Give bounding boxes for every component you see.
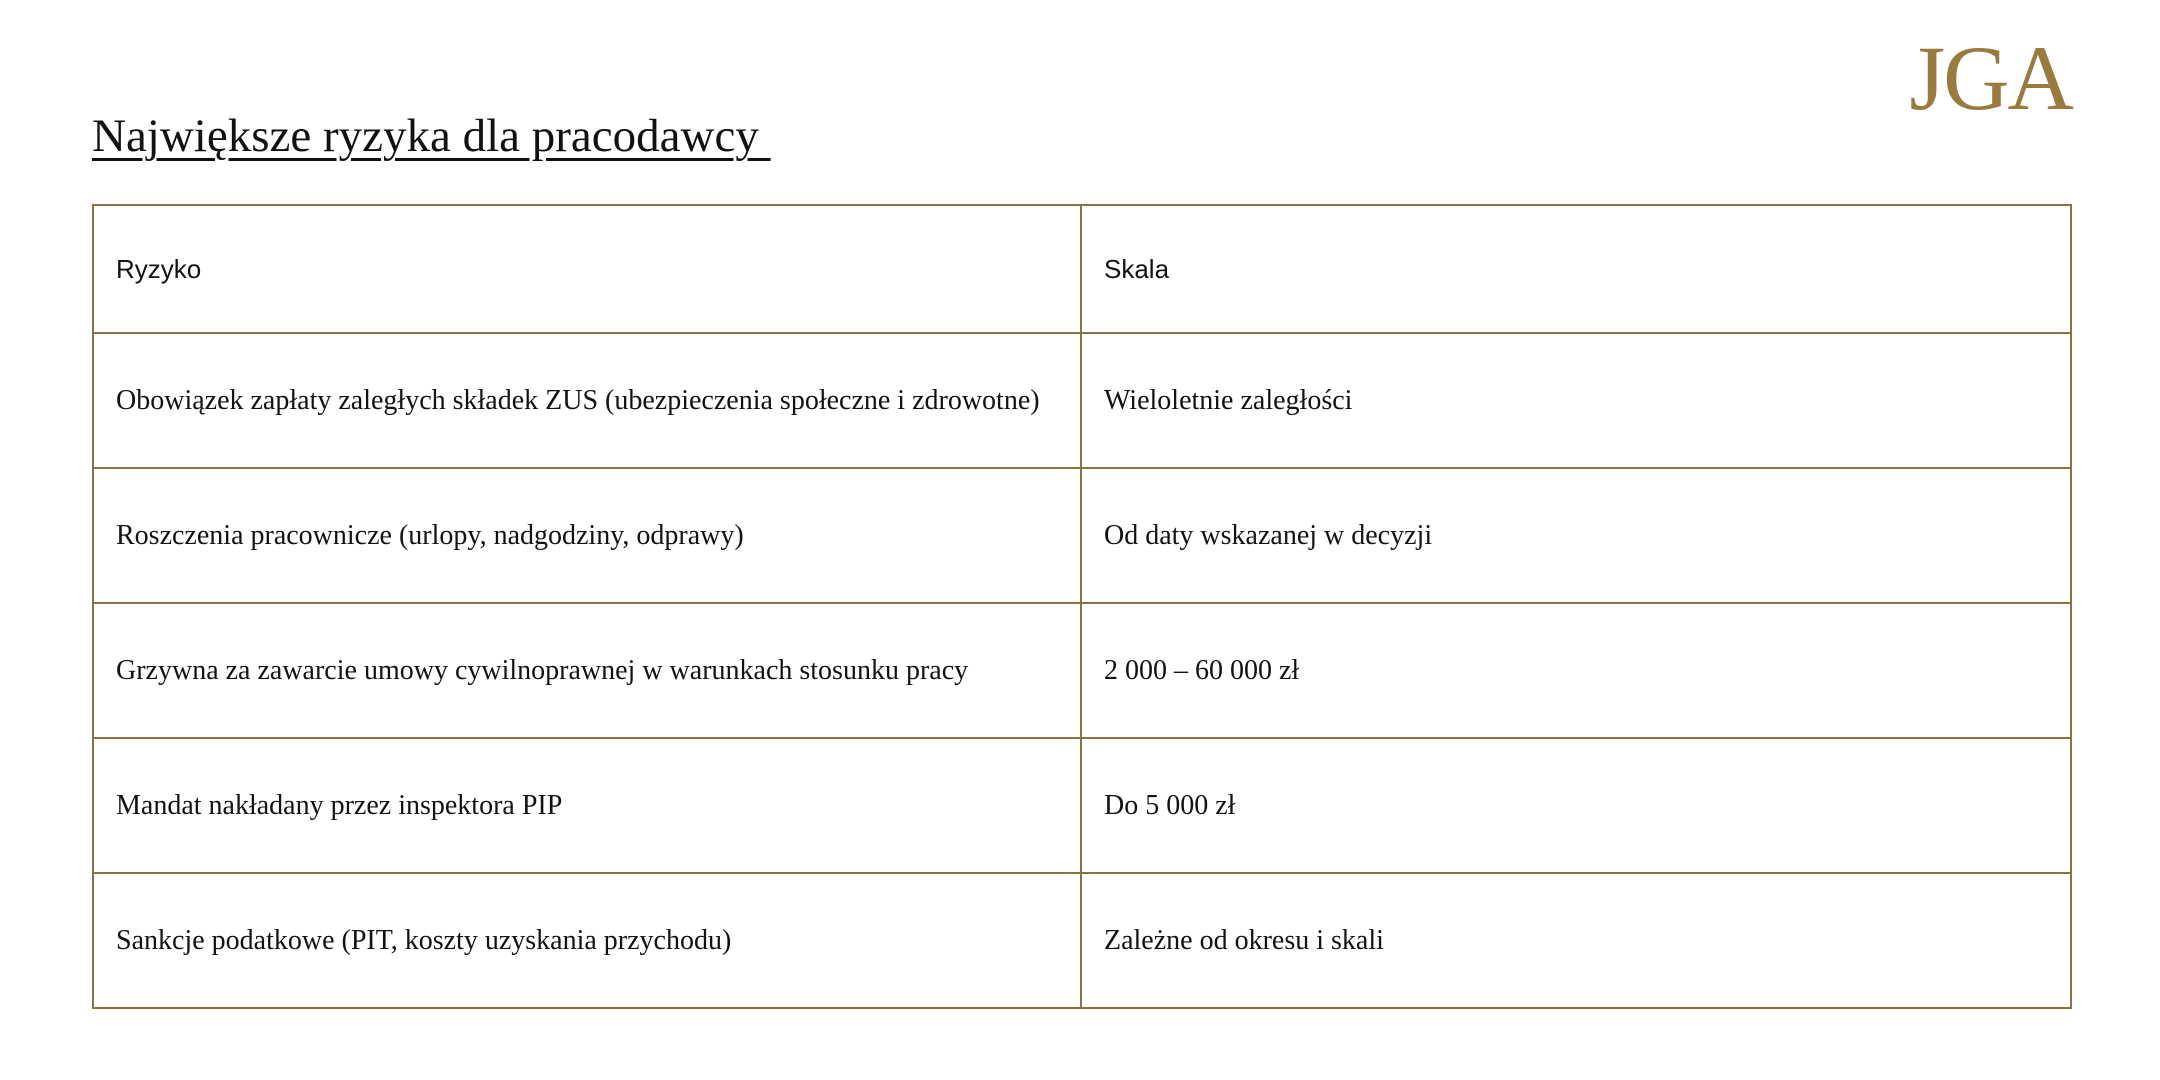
cell-risk: Grzywna za zawarcie umowy cywilnoprawnej…	[93, 603, 1081, 738]
page-title: Największe ryzyka dla pracodawcy	[92, 109, 771, 164]
cell-scale: Wieloletnie zaległości	[1081, 333, 2071, 468]
cell-risk: Mandat nakładany przez inspektora PIP	[93, 738, 1081, 873]
column-header-risk: Ryzyko	[93, 205, 1081, 333]
cell-scale: Zależne od okresu i skali	[1081, 873, 2071, 1008]
table-body: Obowiązek zapłaty zaległych składek ZUS …	[93, 333, 2071, 1008]
table-row: Grzywna za zawarcie umowy cywilnoprawnej…	[93, 603, 2071, 738]
table-header-row: Ryzyko Skala	[93, 205, 2071, 333]
jga-logo-text: JGA	[1909, 32, 2072, 124]
jga-logo: JGA	[1902, 28, 2072, 128]
table-row: Sankcje podatkowe (PIT, koszty uzyskania…	[93, 873, 2071, 1008]
slide-canvas: JGA Największe ryzyka dla pracodawcy Ryz…	[0, 0, 2160, 1080]
risks-table: Ryzyko Skala Obowiązek zapłaty zaległych…	[92, 204, 2072, 1009]
table-row: Mandat nakładany przez inspektora PIP Do…	[93, 738, 2071, 873]
cell-scale: 2 000 – 60 000 zł	[1081, 603, 2071, 738]
cell-scale: Do 5 000 zł	[1081, 738, 2071, 873]
table-row: Roszczenia pracownicze (urlopy, nadgodzi…	[93, 468, 2071, 603]
table-header: Ryzyko Skala	[93, 205, 2071, 333]
table-row: Obowiązek zapłaty zaległych składek ZUS …	[93, 333, 2071, 468]
cell-risk: Roszczenia pracownicze (urlopy, nadgodzi…	[93, 468, 1081, 603]
cell-risk: Obowiązek zapłaty zaległych składek ZUS …	[93, 333, 1081, 468]
cell-scale: Od daty wskazanej w decyzji	[1081, 468, 2071, 603]
column-header-scale: Skala	[1081, 205, 2071, 333]
cell-risk: Sankcje podatkowe (PIT, koszty uzyskania…	[93, 873, 1081, 1008]
